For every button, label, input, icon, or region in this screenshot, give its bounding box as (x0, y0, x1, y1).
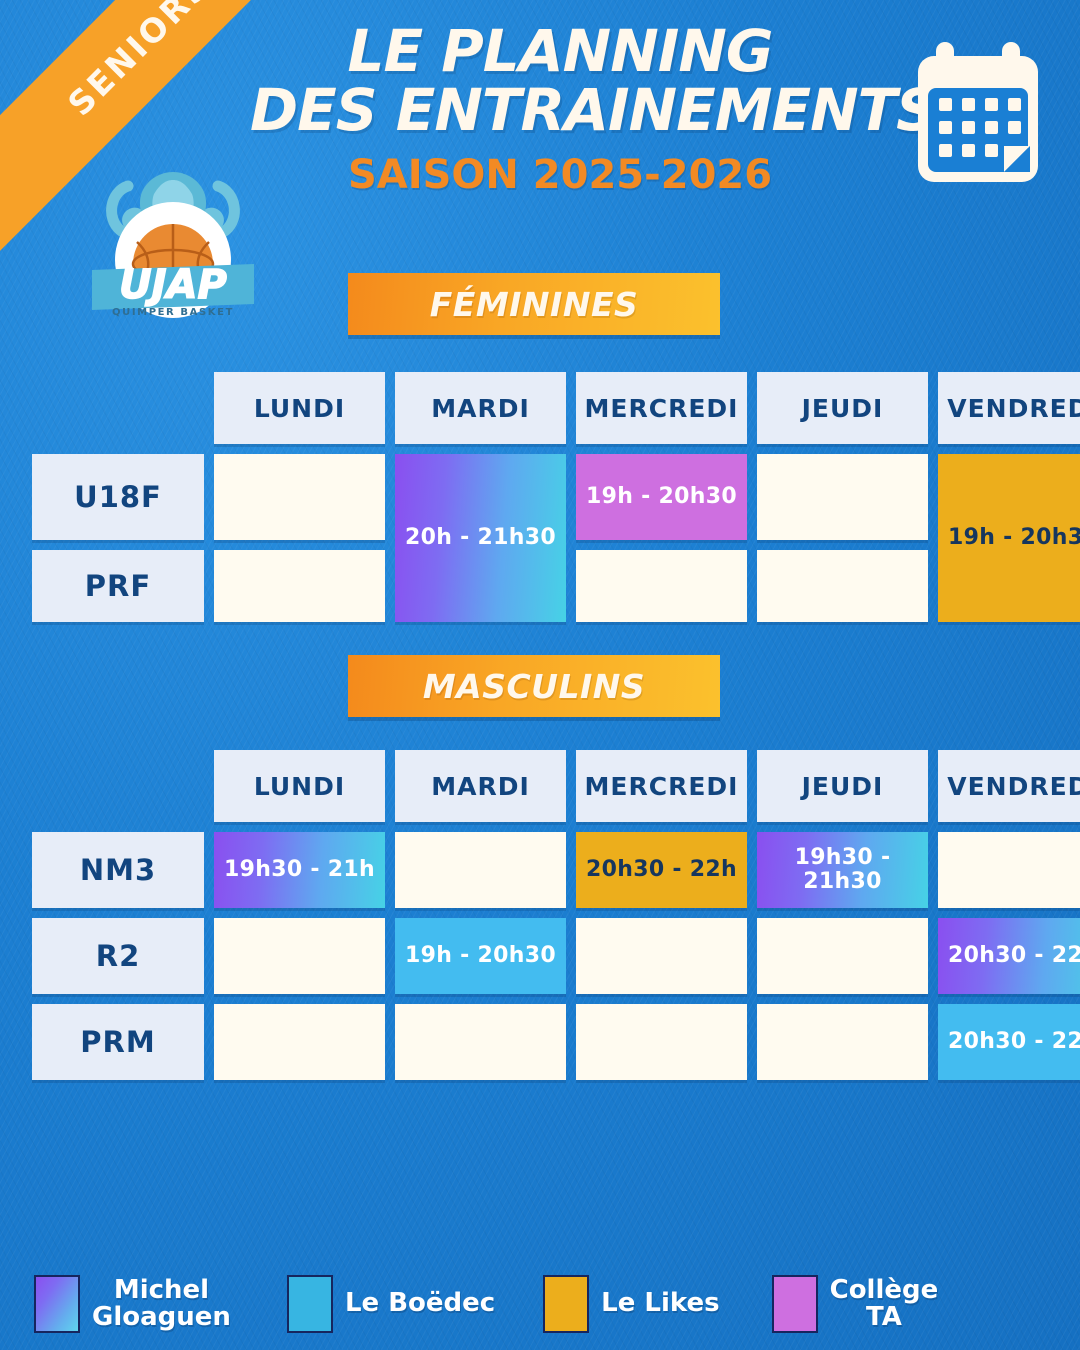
row-label-nm3: NM3 (32, 832, 204, 908)
table-cell[interactable]: 19h30 - 21h30 (757, 832, 928, 908)
legend: Michel Gloaguen Le Boëdec Le Likes Collè… (34, 1268, 1046, 1340)
table-cell[interactable]: 20h30 - 22h (576, 832, 747, 908)
legend-item-gloaguen: Michel Gloaguen (34, 1275, 231, 1333)
row-label-u18f: U18F (32, 454, 204, 540)
day-header-jeudi: JEUDI (757, 372, 928, 444)
legend-label: Michel Gloaguen (92, 1277, 231, 1332)
section-banner-label: MASCULINS (423, 667, 645, 706)
table-cell[interactable] (214, 1004, 385, 1080)
page-title-line1: LE PLANNING (250, 22, 870, 81)
legend-item-boedec: Le Boëdec (287, 1275, 495, 1333)
table-cell[interactable]: 19h - 20h30 (938, 454, 1080, 622)
day-header-lundi: LUNDI (214, 372, 385, 444)
legend-swatch-boedec (287, 1275, 333, 1333)
schedule-grid-feminines: LUNDI MARDI MERCREDI JEUDI VENDREDI U18F… (32, 372, 1080, 622)
grid-corner-spacer (32, 372, 204, 444)
schedule-grid-masculins: LUNDI MARDI MERCREDI JEUDI VENDREDI NM3 … (32, 750, 1080, 1080)
table-cell[interactable] (214, 550, 385, 622)
legend-label: Le Boëdec (345, 1290, 495, 1317)
table-cell[interactable] (395, 832, 566, 908)
table-cell[interactable]: 19h - 20h30 (576, 454, 747, 540)
row-label-r2: R2 (32, 918, 204, 994)
seniors-ribbon-label: SENIORS (60, 0, 218, 123)
table-cell[interactable] (576, 918, 747, 994)
season-subtitle: SAISON 2025-2026 (250, 152, 870, 198)
day-header-vendredi: VENDREDI (938, 372, 1080, 444)
table-cell[interactable] (576, 550, 747, 622)
table-cell[interactable]: 19h30 - 21h (214, 832, 385, 908)
table-cell[interactable] (214, 454, 385, 540)
legend-swatch-college (772, 1275, 818, 1333)
logo-wordmark: UJAP (119, 262, 227, 308)
logo-tagline: QUIMPER BASKET (112, 307, 234, 318)
section-banner-label: FÉMININES (430, 285, 639, 324)
table-cell[interactable] (938, 832, 1080, 908)
table-cell[interactable]: 19h - 20h30 (395, 918, 566, 994)
row-label-prm: PRM (32, 1004, 204, 1080)
section-banner-feminines: FÉMININES (348, 273, 720, 335)
table-cell[interactable] (757, 1004, 928, 1080)
table-cell[interactable] (576, 1004, 747, 1080)
table-cell[interactable] (757, 918, 928, 994)
day-header-mercredi: MERCREDI (576, 750, 747, 822)
day-header-mardi: MARDI (395, 750, 566, 822)
table-cell[interactable] (395, 1004, 566, 1080)
day-header-jeudi: JEUDI (757, 750, 928, 822)
day-header-lundi: LUNDI (214, 750, 385, 822)
legend-swatch-likes (543, 1275, 589, 1333)
table-cell[interactable] (757, 550, 928, 622)
ujap-logo: UJAP QUIMPER BASKET (82, 148, 264, 328)
table-cell[interactable]: 20h - 21h30 (395, 454, 566, 622)
header-block: LE PLANNING DES ENTRAINEMENTS SAISON 202… (250, 22, 870, 198)
legend-label: Le Likes (601, 1290, 719, 1317)
legend-label: Collège TA (830, 1277, 939, 1332)
ujap-logo-svg: UJAP QUIMPER BASKET (82, 148, 264, 328)
legend-item-college: Collège TA (772, 1275, 939, 1333)
page-title-line2: DES ENTRAINEMENTS (250, 81, 870, 140)
day-header-mardi: MARDI (395, 372, 566, 444)
legend-swatch-gloaguen (34, 1275, 80, 1333)
section-banner-masculins: MASCULINS (348, 655, 720, 717)
table-cell[interactable]: 20h30 - 22h (938, 918, 1080, 994)
table-cell[interactable]: 20h30 - 22h (938, 1004, 1080, 1080)
day-header-vendredi: VENDREDI (938, 750, 1080, 822)
calendar-icon (908, 36, 1048, 191)
table-cell[interactable] (757, 454, 928, 540)
row-label-prf: PRF (32, 550, 204, 622)
grid-corner-spacer (32, 750, 204, 822)
table-cell[interactable] (214, 918, 385, 994)
legend-item-likes: Le Likes (543, 1275, 719, 1333)
day-header-mercredi: MERCREDI (576, 372, 747, 444)
